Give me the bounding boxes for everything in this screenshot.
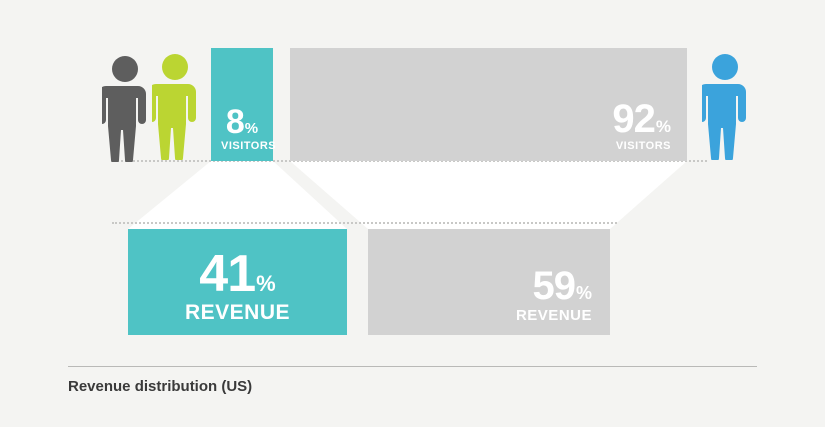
visitors-small-percent-sign: %	[245, 122, 258, 136]
visitors-large-percent-sign: %	[656, 119, 671, 135]
visitors-small-label: VISITORS	[221, 141, 263, 152]
person-icon-green	[152, 52, 198, 160]
visitors-large-label: VISITORS	[300, 141, 671, 152]
bar-visitors-small-segment: 8 % VISITORS	[211, 48, 273, 161]
person-icon-dark	[102, 54, 148, 162]
revenue-large-label: REVENUE	[378, 308, 592, 323]
funnel-small-segment	[128, 161, 347, 229]
revenue-large-value: 59	[532, 268, 575, 305]
infographic-canvas: 8 % VISITORS 92 % VISITORS 41 % REVENUE	[0, 0, 825, 427]
bar-revenue-small-segment: 41 % REVENUE	[128, 229, 347, 335]
visitors-small-value: 8	[226, 107, 244, 138]
revenue-large-value-row: 59 %	[378, 268, 592, 305]
visitors-large-value-row: 92 %	[300, 101, 671, 138]
revenue-small-value-row: 41 %	[138, 251, 337, 299]
visitors-large-value: 92	[612, 101, 655, 138]
funnel-large-segment	[290, 161, 687, 229]
revenue-small-percent-sign: %	[256, 274, 276, 294]
guide-line-bottom	[112, 222, 617, 224]
visitors-small-value-row: 8 %	[221, 107, 263, 138]
revenue-small-value: 41	[199, 251, 255, 299]
bar-visitors-large-segment: 92 % VISITORS	[290, 48, 687, 161]
revenue-large-percent-sign: %	[576, 285, 592, 302]
person-icon-blue	[702, 52, 748, 160]
revenue-small-label: REVENUE	[138, 302, 337, 323]
bar-revenue-large-segment: 59 % REVENUE	[368, 229, 610, 335]
caption-divider	[68, 366, 757, 367]
chart-caption: Revenue distribution (US)	[68, 378, 252, 395]
